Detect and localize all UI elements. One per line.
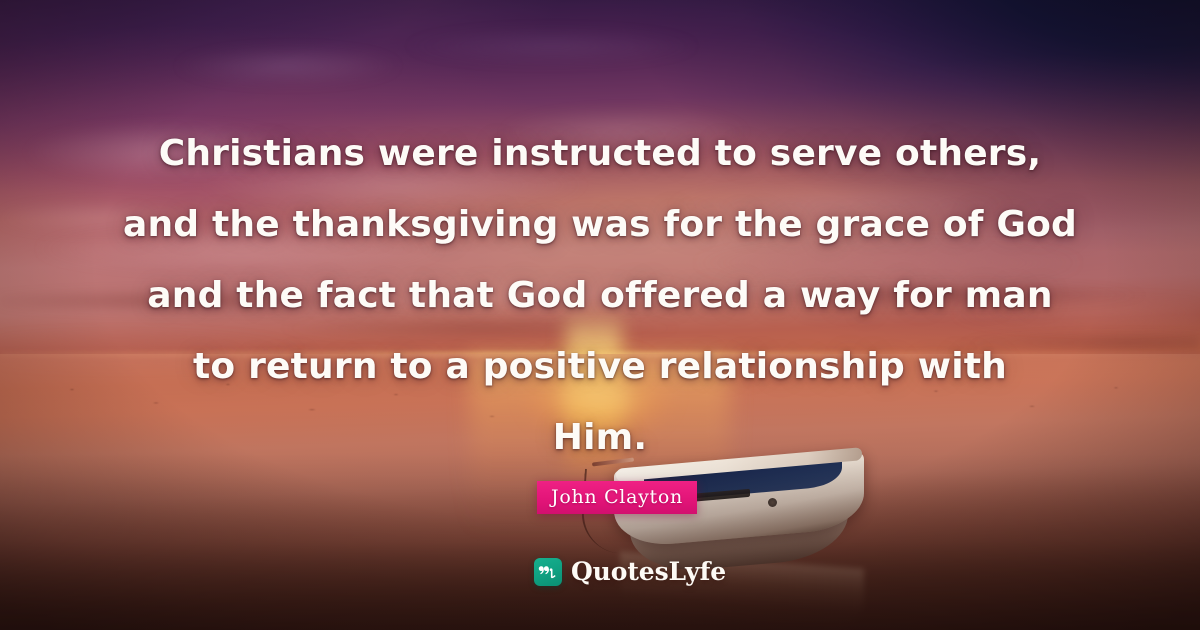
author-badge: John Clayton xyxy=(537,481,697,514)
author-name: John Clayton xyxy=(551,486,683,508)
quote-line: Him. xyxy=(120,402,1080,473)
quote-text-block: Christians were instructed to serve othe… xyxy=(0,118,1200,473)
quote-image-card: Christians were instructed to serve othe… xyxy=(0,0,1200,630)
brand-watermark: QuotesLyfe xyxy=(534,557,726,586)
quote-line: to return to a positive relationship wit… xyxy=(120,331,1080,402)
quote-line: and the thanksgiving was for the grace o… xyxy=(120,189,1080,260)
quote-line: Christians were instructed to serve othe… xyxy=(120,118,1080,189)
quotation-marks-icon xyxy=(534,558,562,586)
quote-line: and the fact that God offered a way for … xyxy=(120,260,1080,331)
brand-name: QuotesLyfe xyxy=(571,557,726,586)
